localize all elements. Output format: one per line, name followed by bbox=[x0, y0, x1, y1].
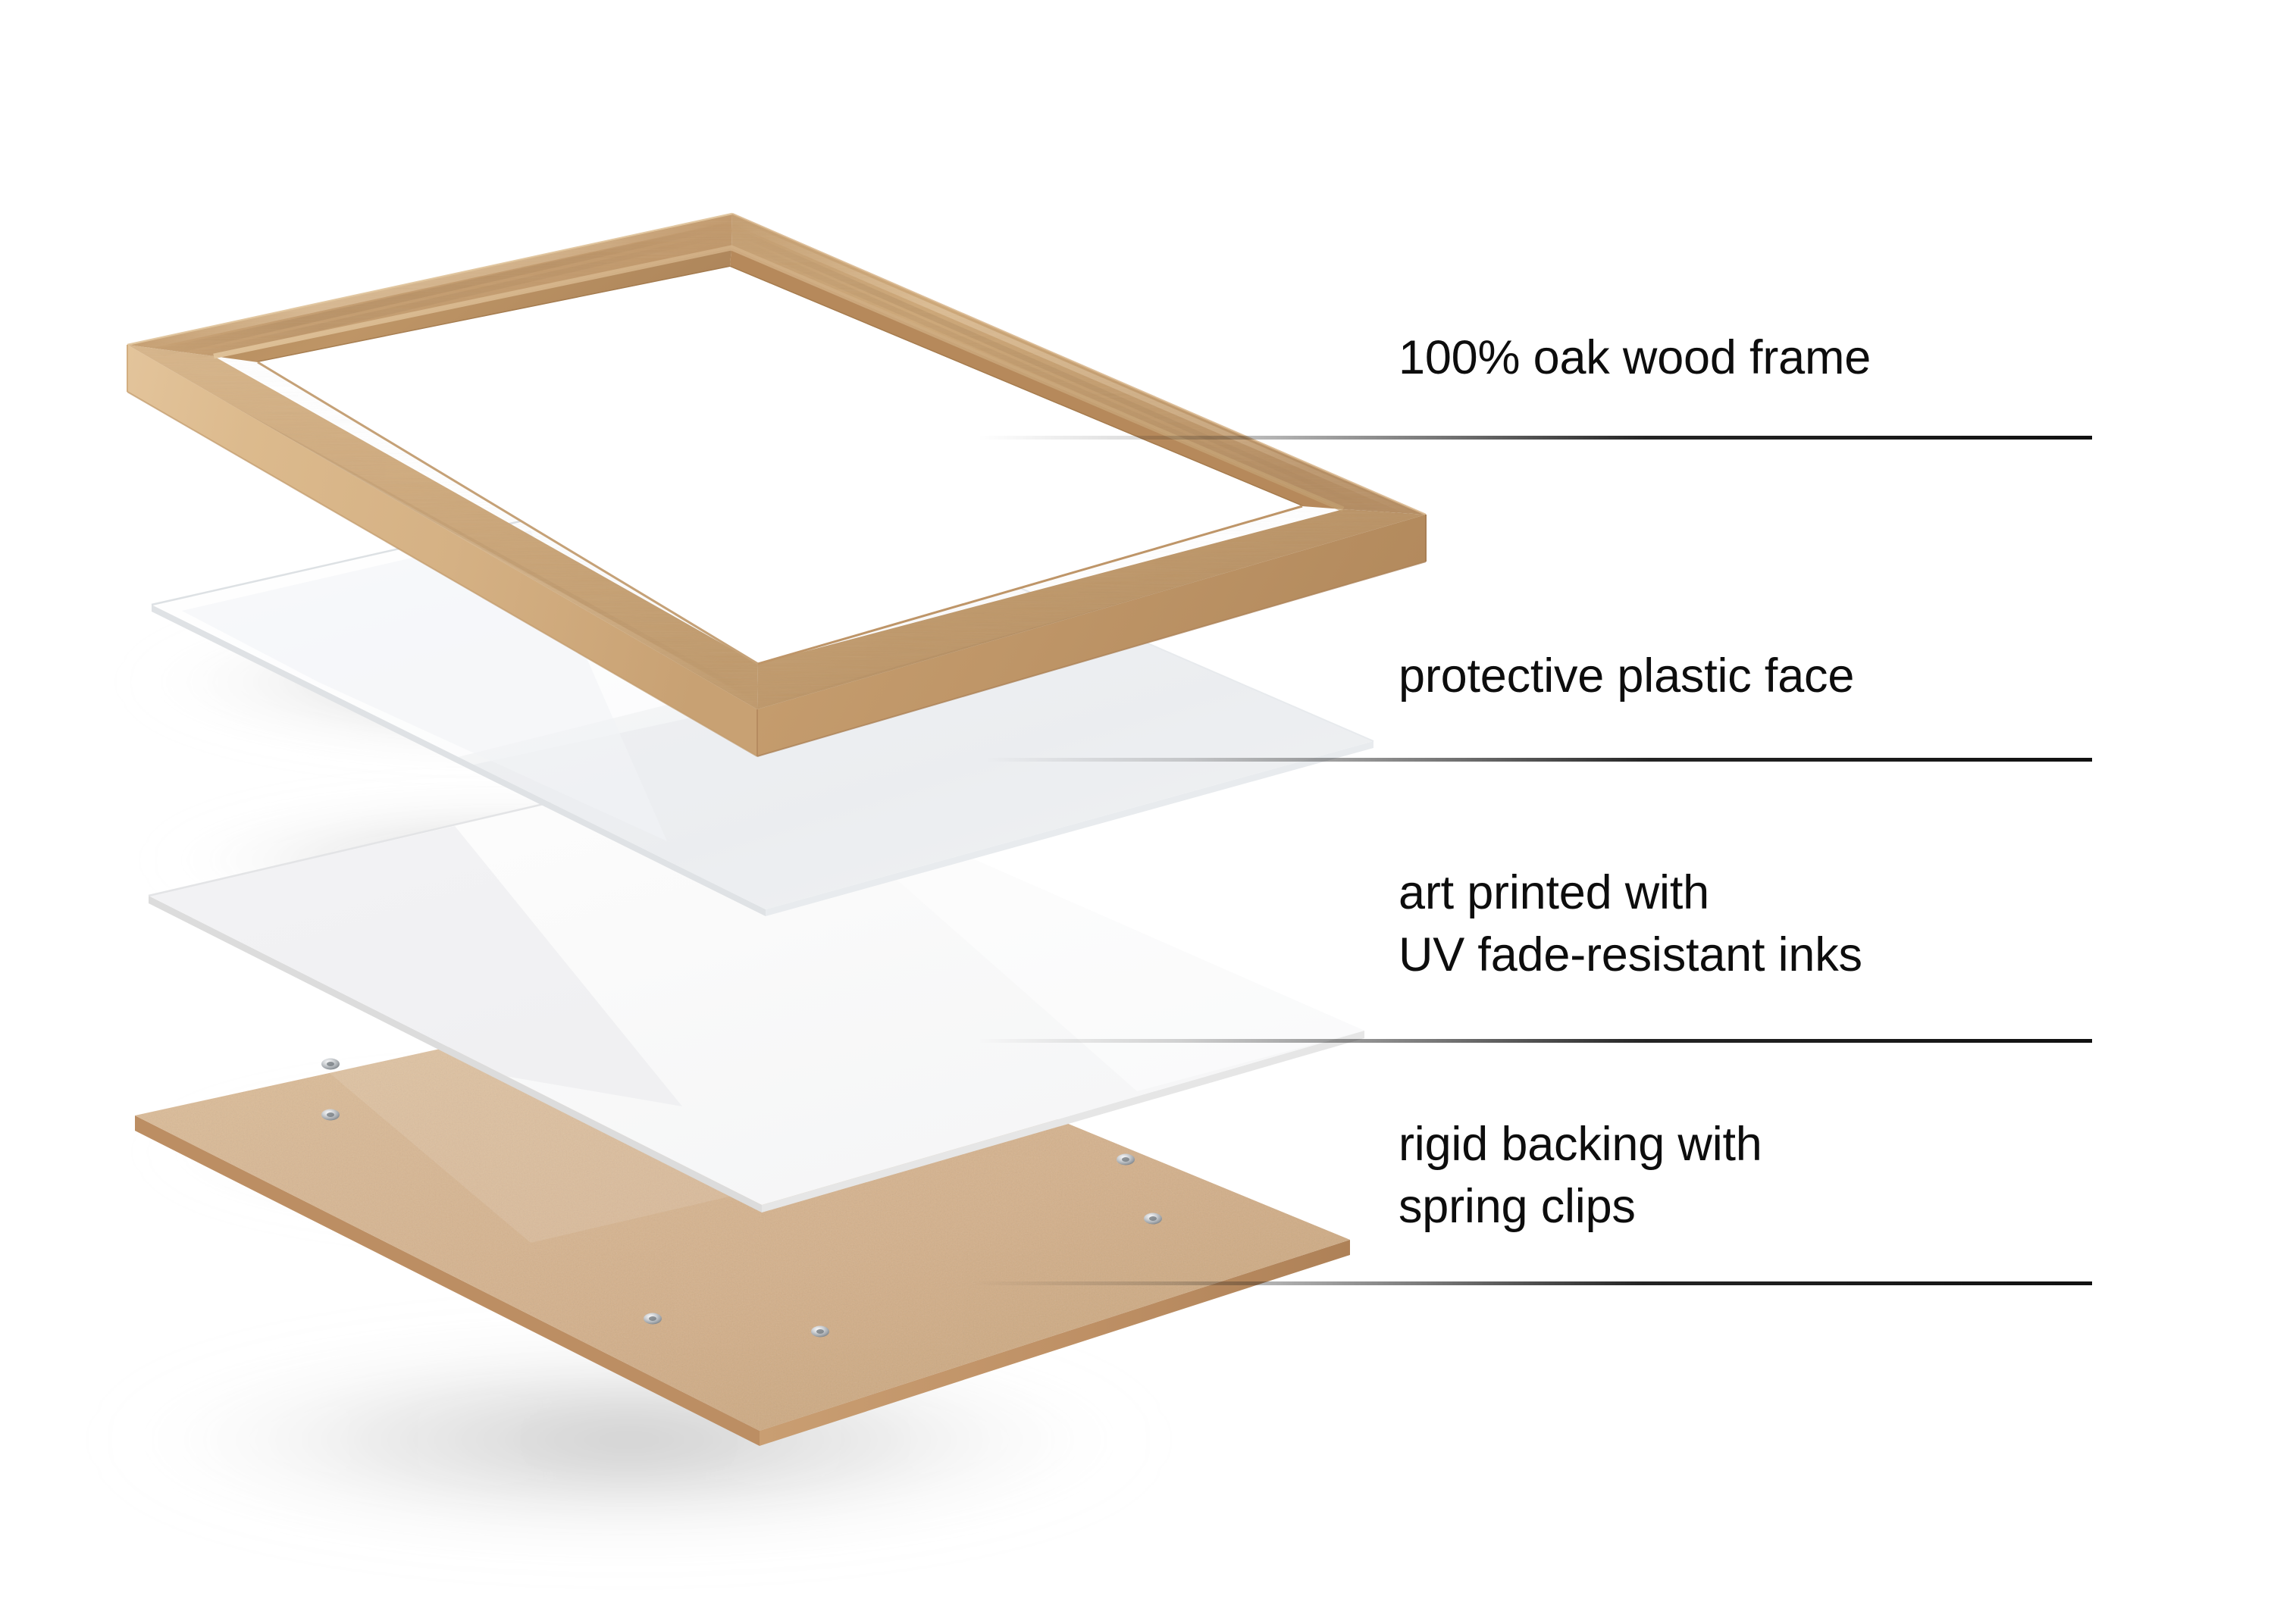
rivet bbox=[321, 1059, 340, 1070]
callout-label-rigid-backing: rigid backing with spring clips bbox=[1399, 1114, 1762, 1238]
callout-label-oak-frame: 100% oak wood frame bbox=[1399, 327, 1871, 390]
rivet bbox=[1144, 1213, 1162, 1225]
leader-line-print bbox=[978, 1039, 2092, 1043]
leader-line-frame bbox=[978, 436, 2092, 440]
rivet bbox=[321, 1109, 340, 1121]
rivet bbox=[1117, 1154, 1135, 1166]
exploded-view-figure: 100% oak wood frame protective plastic f… bbox=[0, 0, 2274, 1624]
callout-label-art-print: art printed with UV fade-resistant inks bbox=[1399, 862, 1862, 987]
leader-line-plastic bbox=[985, 758, 2092, 762]
exploded-view-illustration bbox=[0, 0, 2274, 1624]
callout-label-protective-plastic: protective plastic face bbox=[1399, 646, 1854, 708]
rivet bbox=[644, 1313, 662, 1325]
rivet bbox=[811, 1326, 829, 1338]
leader-line-backing bbox=[970, 1281, 2092, 1285]
